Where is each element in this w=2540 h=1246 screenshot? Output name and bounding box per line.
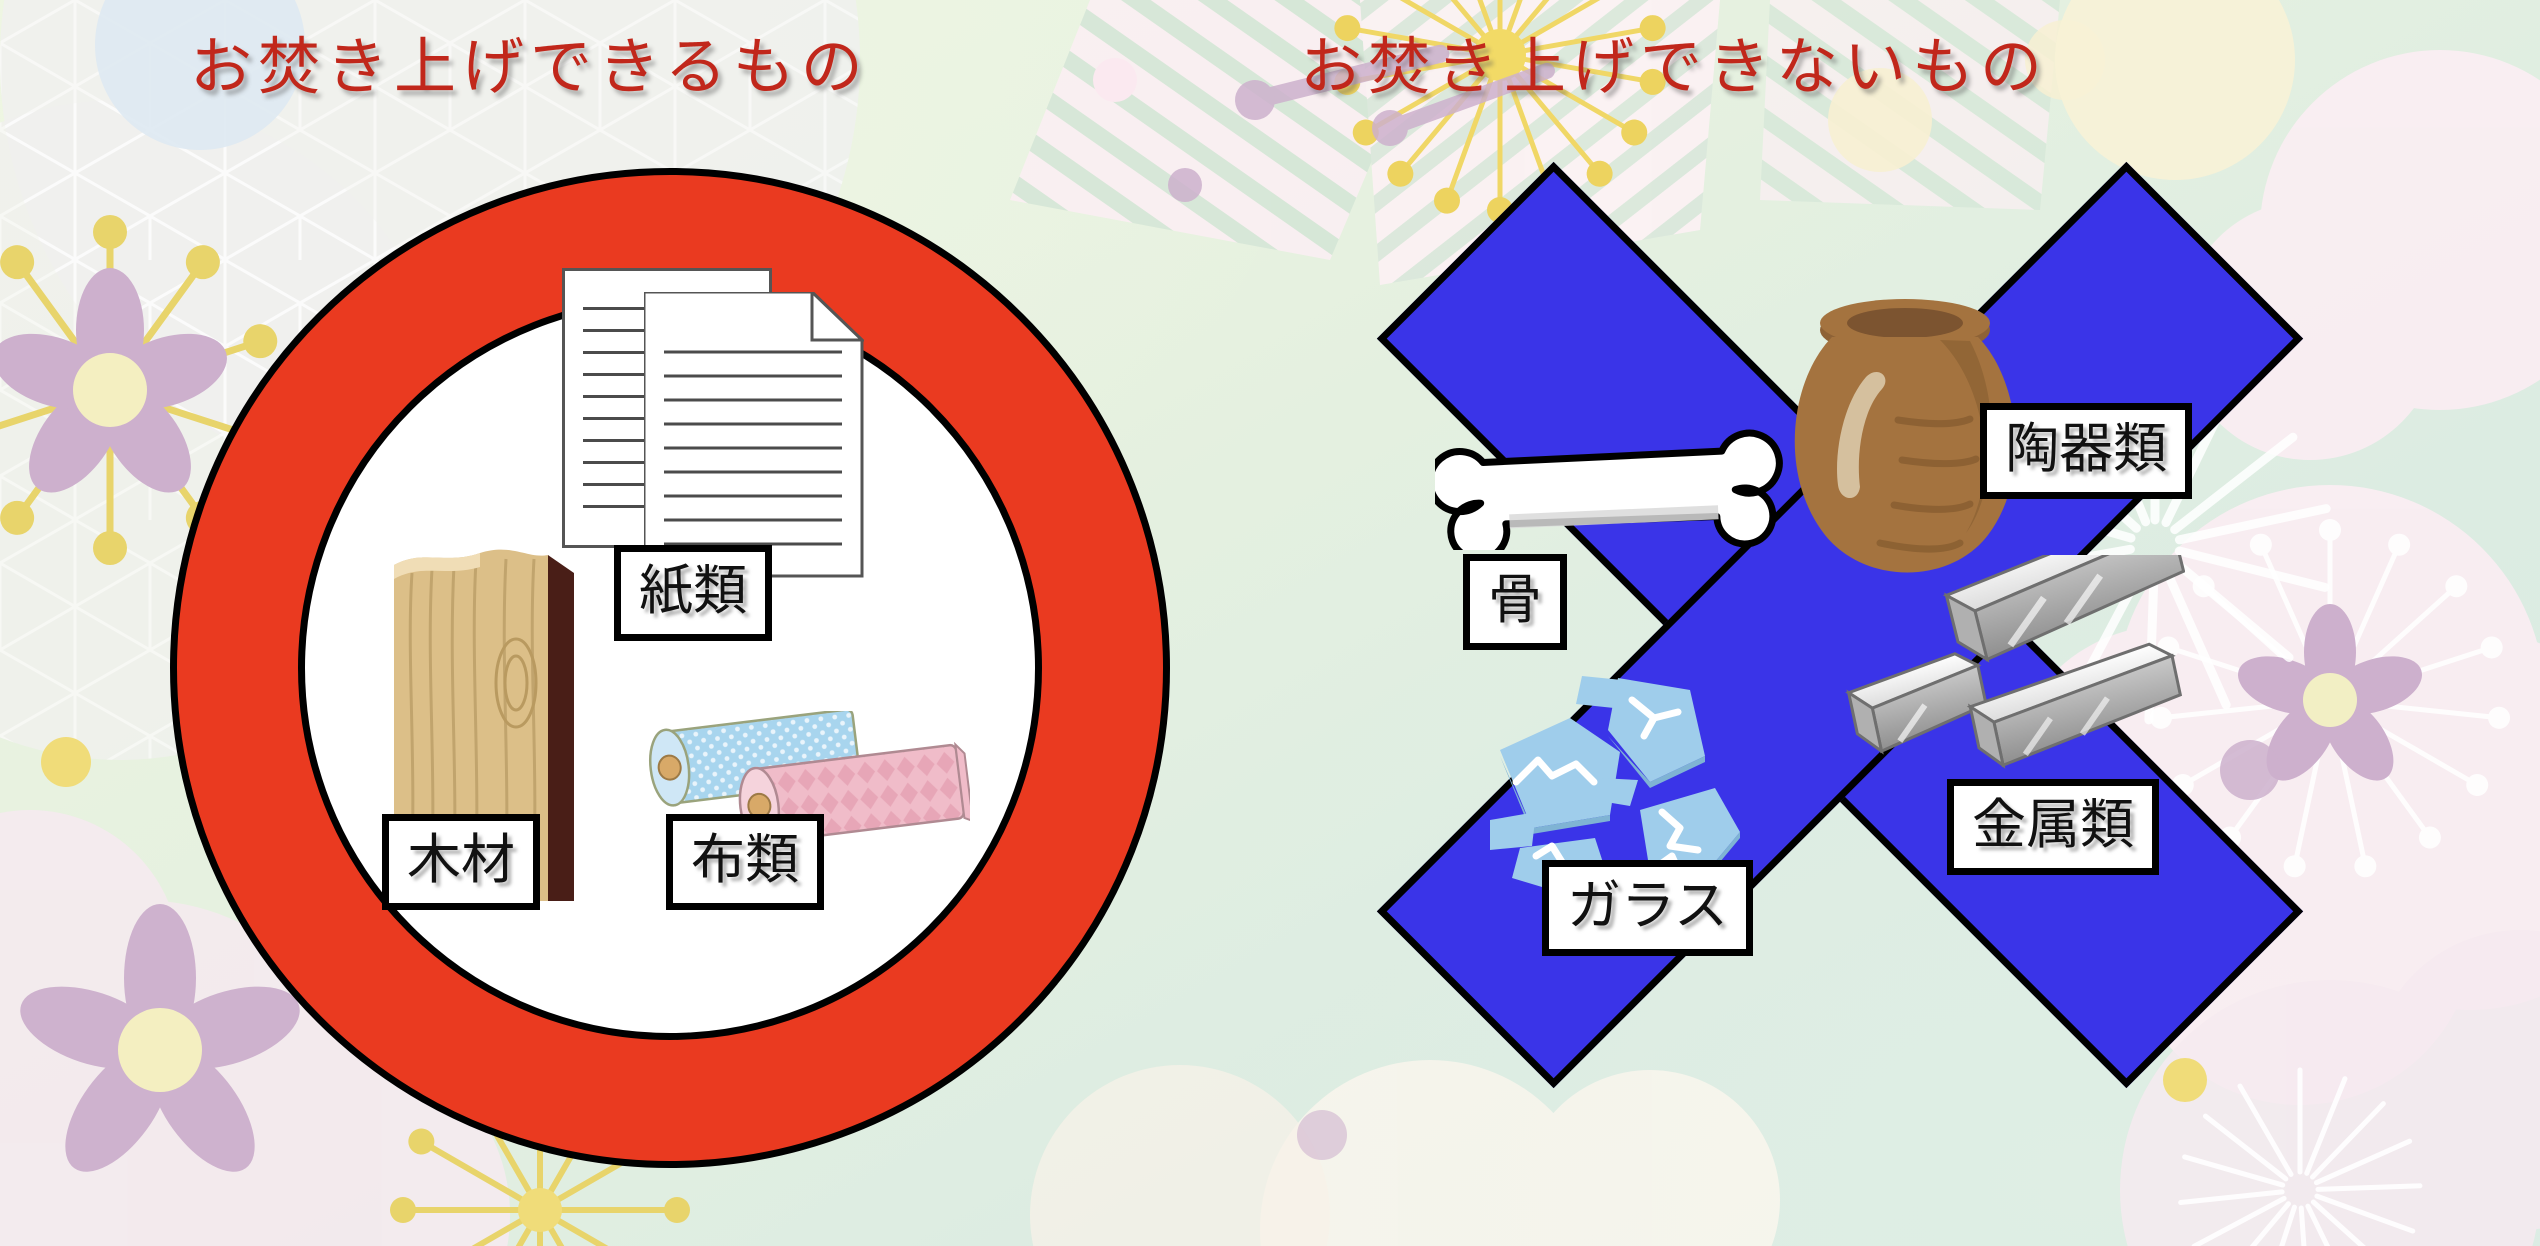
label-ceramic: 陶器類 xyxy=(1980,403,2192,499)
page-title-not-allowed: お焚き上げできないもの xyxy=(1300,16,2048,106)
label-wood: 木材 xyxy=(382,814,540,910)
metal-ingots-icon xyxy=(1835,555,2185,785)
label-paper: 紙類 xyxy=(614,545,772,641)
not-allowed-group: 骨 陶器類 ガラス 金属類 xyxy=(1380,160,2300,1090)
allowed-group: 紙類 木材 布類 xyxy=(170,168,1170,1168)
bone-icon xyxy=(1435,415,1785,550)
poster-canvas: お焚き上げできるもの お焚き上げできないもの xyxy=(0,0,2540,1246)
page-title-allowed: お焚き上げできるもの xyxy=(190,16,869,106)
label-metal: 金属類 xyxy=(1947,779,2159,875)
broken-glass-icon xyxy=(1490,660,1780,890)
label-glass: ガラス xyxy=(1542,860,1753,956)
label-cloth: 布類 xyxy=(666,814,824,910)
label-bone: 骨 xyxy=(1463,554,1567,650)
paper-sheets-icon xyxy=(562,268,862,578)
